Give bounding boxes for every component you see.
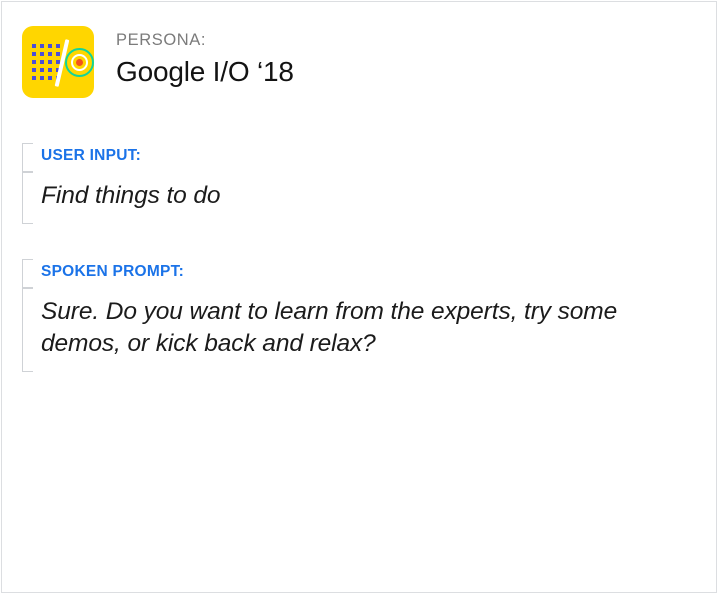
- google-io-logo-icon: [22, 26, 94, 98]
- logo-dot: [32, 68, 36, 72]
- logo-dot: [48, 60, 52, 64]
- logo-dot: [40, 68, 44, 72]
- persona-name: Google I/O ‘18: [116, 54, 294, 90]
- logo-dot: [40, 44, 44, 48]
- bracket-cap-top: [22, 259, 33, 260]
- spoken-prompt-label-bracket: SPOKEN PROMPT:: [22, 259, 681, 288]
- bracket-cap-bottom: [22, 223, 33, 224]
- spoken-prompt-label: SPOKEN PROMPT:: [41, 259, 681, 288]
- spoken-prompt-field: SPOKEN PROMPT: Sure. Do you want to lear…: [22, 259, 681, 372]
- logo-dot: [48, 76, 52, 80]
- spoken-prompt-value-bracket: Sure. Do you want to learn from the expe…: [22, 288, 681, 373]
- logo-dot: [32, 52, 36, 56]
- user-input-value: Find things to do: [41, 172, 220, 224]
- logo-dot: [56, 44, 60, 48]
- logo-dot: [32, 60, 36, 64]
- bracket-cap-bottom: [22, 371, 33, 372]
- persona-label: PERSONA:: [116, 30, 294, 51]
- logo-ring-core-icon: [76, 59, 83, 66]
- persona-header: PERSONA: Google I/O ‘18: [22, 26, 294, 98]
- spoken-prompt-value: Sure. Do you want to learn from the expe…: [41, 288, 681, 373]
- logo-dot: [48, 44, 52, 48]
- user-input-field: USER INPUT: Find things to do: [22, 143, 220, 224]
- logo-dot: [40, 52, 44, 56]
- persona-card: PERSONA: Google I/O ‘18 USER INPUT: Find…: [1, 1, 717, 593]
- logo-dot: [48, 68, 52, 72]
- logo-dot: [40, 60, 44, 64]
- user-input-label: USER INPUT:: [41, 143, 220, 172]
- logo-dot: [32, 76, 36, 80]
- logo-dot: [48, 52, 52, 56]
- logo-dot: [40, 76, 44, 80]
- persona-text-group: PERSONA: Google I/O ‘18: [116, 26, 294, 90]
- user-input-value-bracket: Find things to do: [22, 172, 220, 224]
- bracket-cap-top: [22, 172, 33, 173]
- logo-dot: [32, 44, 36, 48]
- bracket-cap-top: [22, 288, 33, 289]
- bracket-cap-top: [22, 143, 33, 144]
- logo-dot: [56, 52, 60, 56]
- user-input-label-bracket: USER INPUT:: [22, 143, 220, 172]
